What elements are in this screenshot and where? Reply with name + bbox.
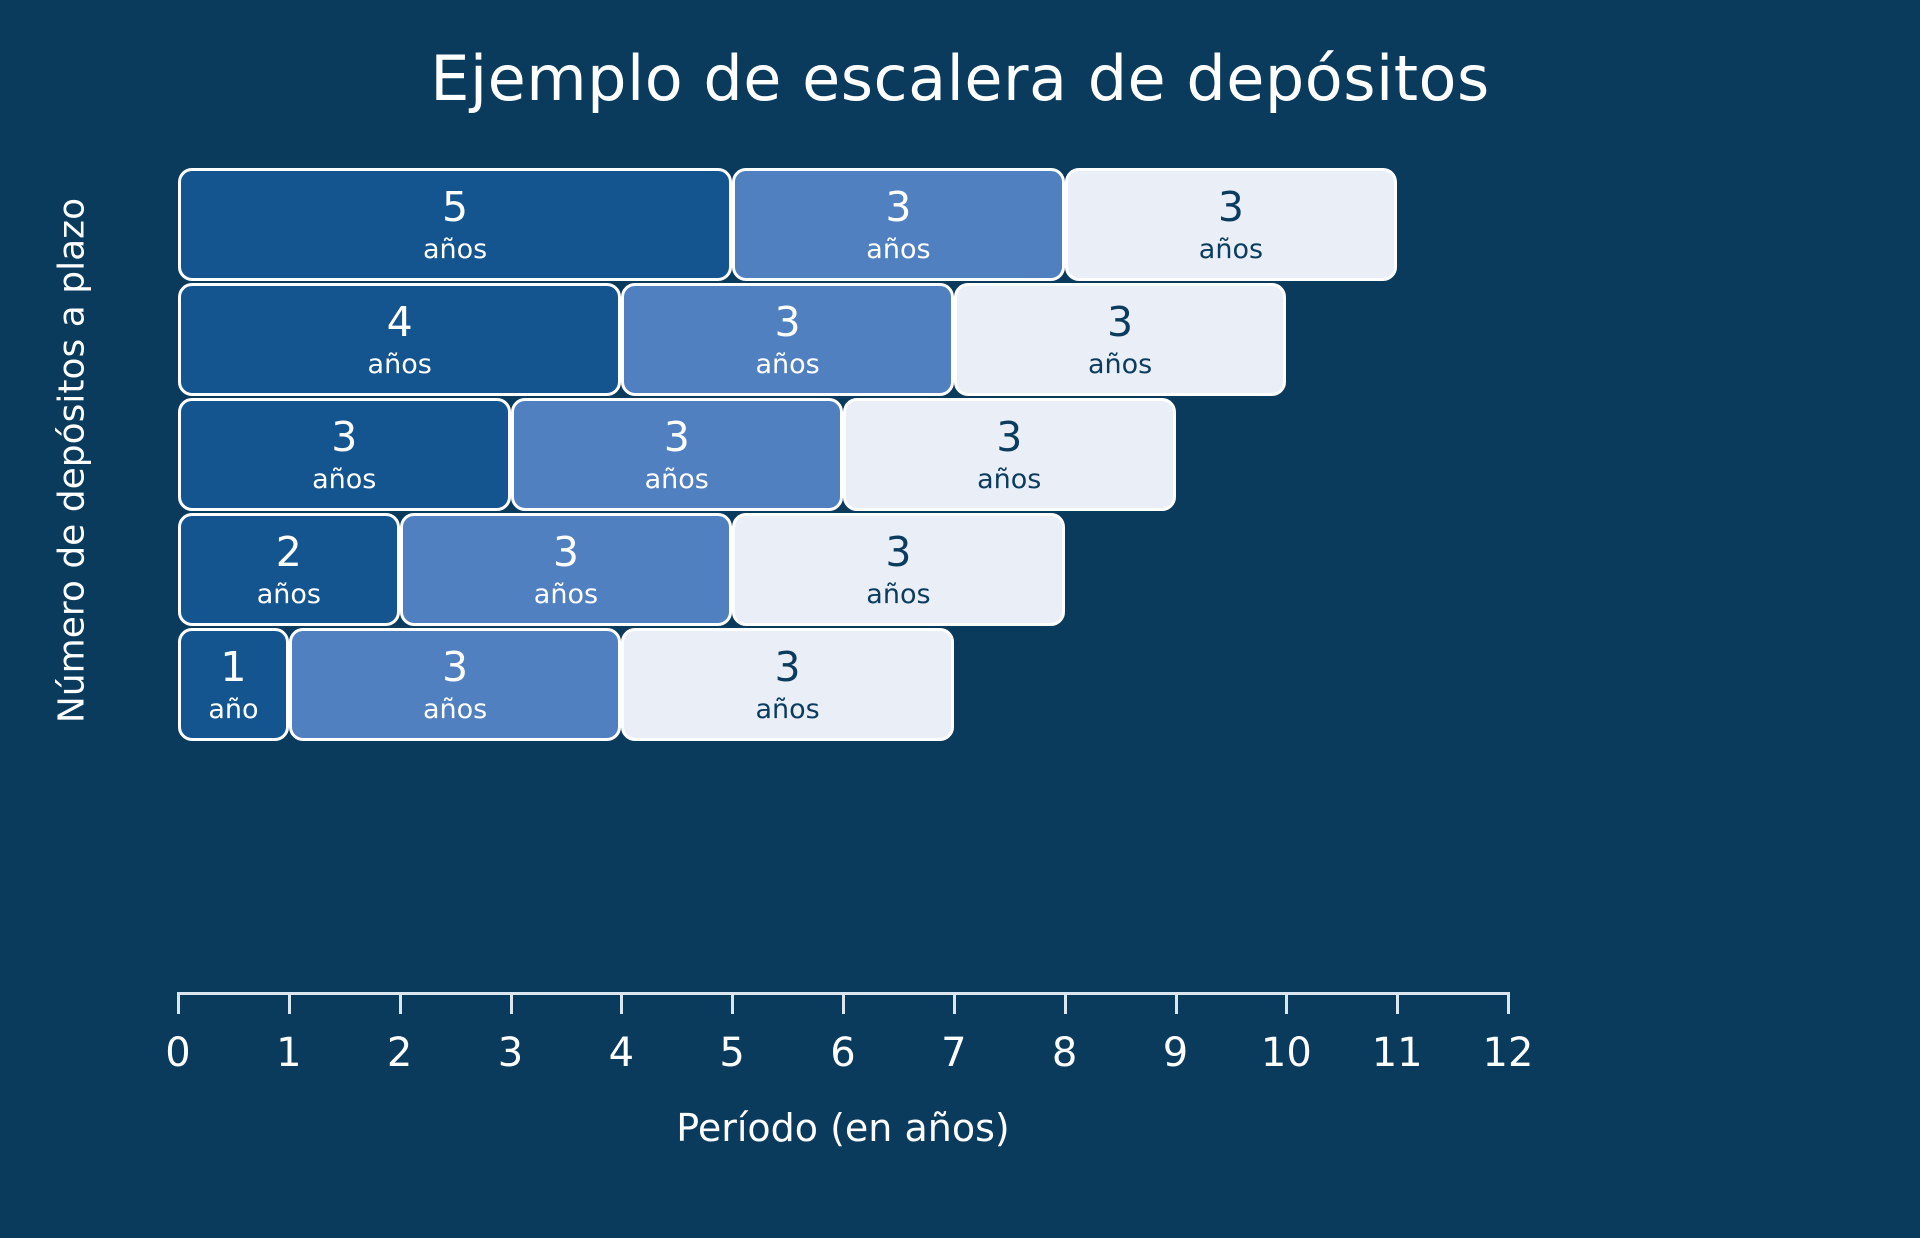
bar-segment-unit: años [755,351,819,378]
bar-segment-value: 3 [1107,302,1133,343]
bar-segment-value: 5 [442,187,468,228]
bar-segment-value: 3 [996,417,1022,458]
bar-segment[interactable]: 3años [400,513,733,626]
bar-segment-value: 3 [885,187,911,228]
x-axis-tick [1064,992,1067,1014]
bar-segment-unit: años [645,466,709,493]
x-axis-tick-label: 7 [909,1030,999,1076]
bar-segment[interactable]: 2años [178,513,400,626]
bar-segment[interactable]: 3años [1065,168,1398,281]
x-axis-tick-label: 9 [1131,1030,1221,1076]
bar-segment[interactable]: 1año [178,628,289,741]
x-axis-tick-label: 0 [133,1030,223,1076]
x-axis-tick-label: 10 [1241,1030,1331,1076]
bar-segment-value: 1 [220,647,246,688]
bar-segment[interactable]: 3años [289,628,622,741]
bar-row: 2años3años3años [178,513,1508,626]
x-axis-tick [177,992,180,1014]
bar-segment-unit: años [1088,351,1152,378]
x-axis-tick-label: 4 [576,1030,666,1076]
x-axis: 0123456789101112 [178,992,1508,1112]
bar-segment-value: 3 [775,647,801,688]
x-axis-tick-label: 8 [1020,1030,1110,1076]
bar-segment-value: 3 [1218,187,1244,228]
x-axis-tick-label: 3 [466,1030,556,1076]
bar-segment-unit: años [866,581,930,608]
bar-segment-unit: años [534,581,598,608]
x-axis-tick [1507,992,1510,1014]
x-axis-tick [842,992,845,1014]
y-axis-title: Número de depósitos a plazo [52,151,93,771]
x-axis-tick [731,992,734,1014]
bar-segment-value: 4 [387,302,413,343]
x-axis-tick-label: 6 [798,1030,888,1076]
x-axis-tick [620,992,623,1014]
bar-segment-unit: años [423,236,487,263]
bar-segment[interactable]: 3años [621,283,954,396]
bar-segment-unit: años [866,236,930,263]
bar-segment-unit: años [755,696,819,723]
bar-segment[interactable]: 4años [178,283,621,396]
bar-segment-value: 3 [553,532,579,573]
bar-segment[interactable]: 3años [178,398,511,511]
x-axis-tick [399,992,402,1014]
x-axis-tick [953,992,956,1014]
bar-row: 3años3años3años [178,398,1508,511]
plot-area: 5años3años3años4años3años3años3años3años… [178,168,1508,908]
bar-segment[interactable]: 3años [732,513,1065,626]
bar-segment-unit: años [423,696,487,723]
bar-segment-unit: año [208,696,258,723]
x-axis-title: Período (en años) [178,1106,1508,1150]
bar-segment[interactable]: 3años [843,398,1176,511]
bar-row: 1año3años3años [178,628,1508,741]
x-axis-tick [1285,992,1288,1014]
bar-segment[interactable]: 3años [732,168,1065,281]
x-axis-tick-label: 5 [687,1030,777,1076]
bar-segment-unit: años [977,466,1041,493]
bar-segment-value: 3 [442,647,468,688]
bar-segment-value: 3 [664,417,690,458]
x-axis-tick-label: 1 [244,1030,334,1076]
bar-segment[interactable]: 3años [621,628,954,741]
x-axis-tick [510,992,513,1014]
deposit-ladder-chart: Ejemplo de escalera de depósitos Número … [0,0,1920,1238]
bar-segment-unit: años [1199,236,1263,263]
bar-segment-unit: años [368,351,432,378]
bar-segment-value: 3 [885,532,911,573]
x-axis-tick [1396,992,1399,1014]
bar-row: 4años3años3años [178,283,1508,396]
x-axis-tick-label: 2 [355,1030,445,1076]
x-axis-tick [288,992,291,1014]
chart-title: Ejemplo de escalera de depósitos [0,42,1920,115]
bar-row: 5años3años3años [178,168,1508,281]
bar-segment-value: 3 [775,302,801,343]
x-axis-tick-label: 12 [1463,1030,1553,1076]
bar-segment-unit: años [257,581,321,608]
bar-segment-unit: años [312,466,376,493]
bar-segment-value: 3 [331,417,357,458]
x-axis-tick [1175,992,1178,1014]
bar-segment[interactable]: 5años [178,168,732,281]
bar-segment-value: 2 [276,532,302,573]
bar-segment[interactable]: 3años [511,398,844,511]
x-axis-tick-label: 11 [1352,1030,1442,1076]
bar-segment[interactable]: 3años [954,283,1287,396]
